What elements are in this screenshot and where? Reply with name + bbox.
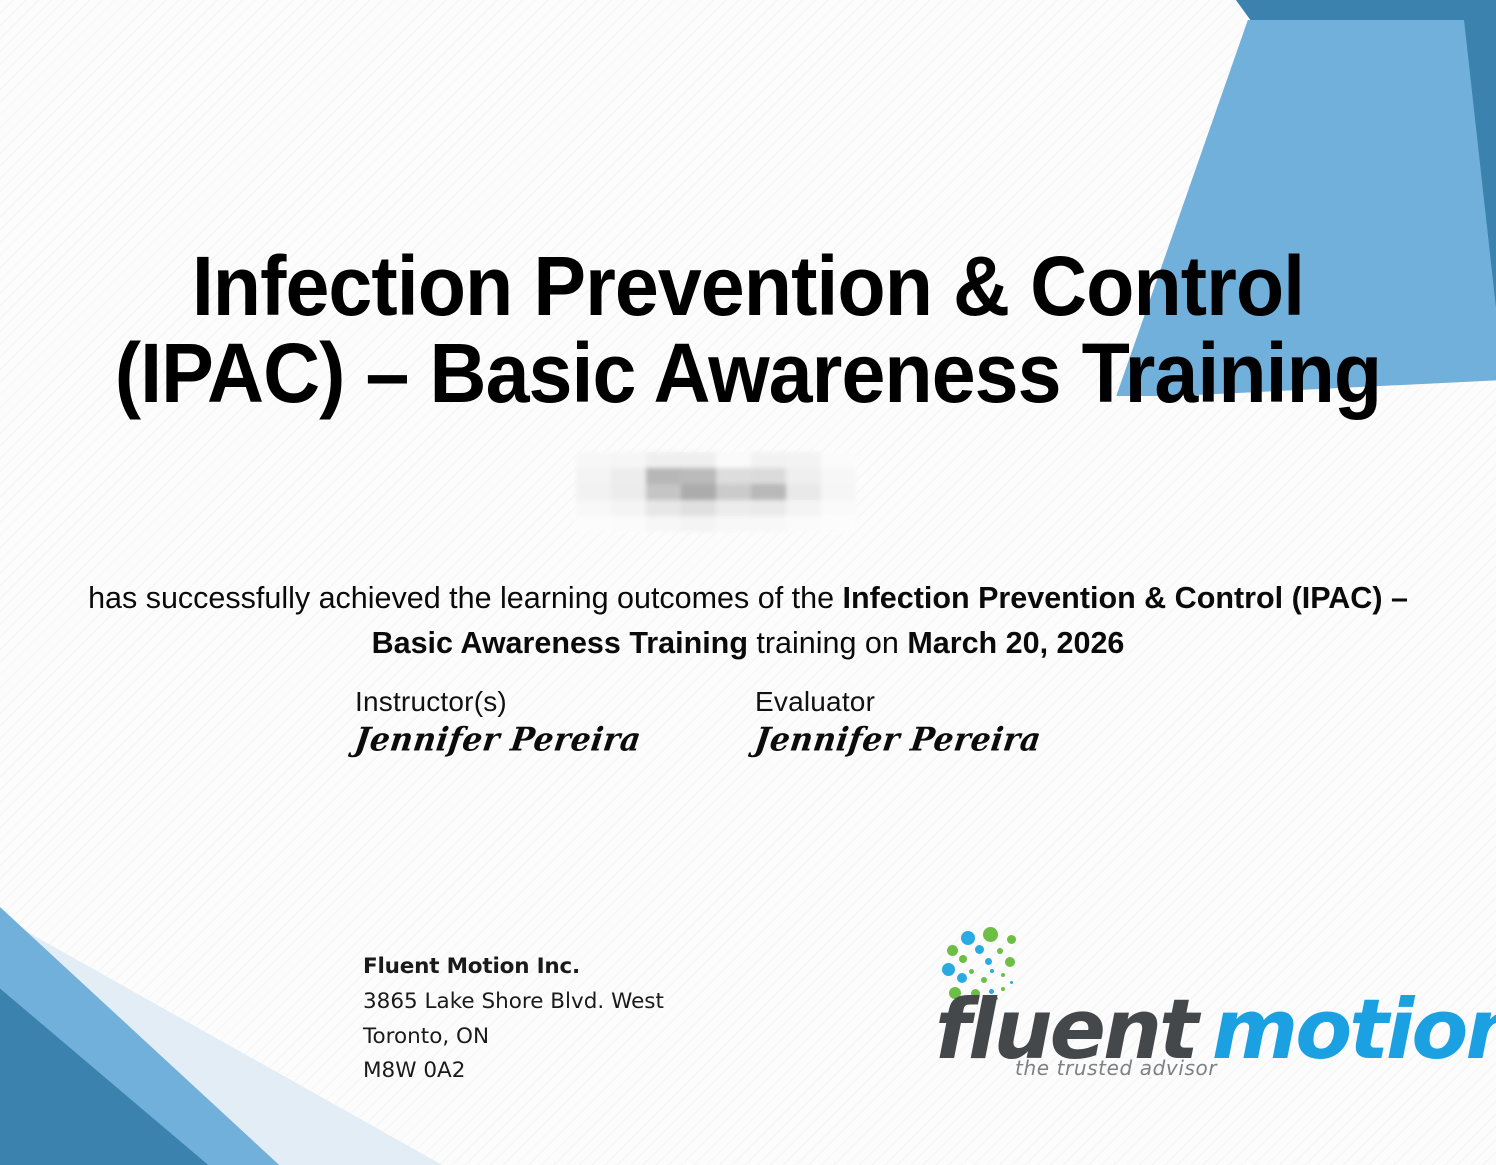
certificate-title-line-1: Infection Prevention & Control (101, 243, 1394, 330)
statement-middle: training on (748, 626, 907, 660)
logo-tagline: the trusted advisor (1015, 1056, 1217, 1080)
statement-lead: has successfully achieved the learning o… (88, 581, 842, 615)
instructor-signature: Jennifer Pereira (352, 721, 757, 759)
evaluator-label: Evaluator (755, 686, 1055, 718)
recipient-name-redacted (576, 452, 856, 532)
company-city: Toronto, ON (363, 1020, 664, 1055)
certificate-title: Infection Prevention & Control (IPAC) – … (101, 243, 1394, 416)
certificate-page: Infection Prevention & Control (IPAC) – … (0, 0, 1496, 1165)
instructor-label: Instructor(s) (355, 686, 755, 718)
achievement-statement: has successfully achieved the learning o… (70, 576, 1426, 666)
certificate-content: Infection Prevention & Control (IPAC) – … (0, 0, 1496, 1165)
evaluator-signature: Jennifer Pereira (752, 721, 1057, 759)
signature-block: Instructor(s) Jennifer Pereira Evaluator… (355, 686, 1055, 758)
signature-instructor: Instructor(s) Jennifer Pereira (355, 686, 755, 758)
logo-word-motion: motion (1212, 981, 1496, 1078)
company-name: Fluent Motion Inc. (363, 950, 664, 985)
company-address: Fluent Motion Inc. 3865 Lake Shore Blvd.… (363, 950, 664, 1089)
company-postal-code: M8W 0A2 (363, 1054, 664, 1089)
certificate-title-line-2: (IPAC) – Basic Awareness Training (101, 330, 1394, 417)
fluent-motion-logo: fluentmotion the trusted advisor (935, 925, 1405, 1085)
company-street: 3865 Lake Shore Blvd. West (363, 985, 664, 1020)
signature-evaluator: Evaluator Jennifer Pereira (755, 686, 1055, 758)
statement-date: March 20, 2026 (907, 626, 1124, 660)
